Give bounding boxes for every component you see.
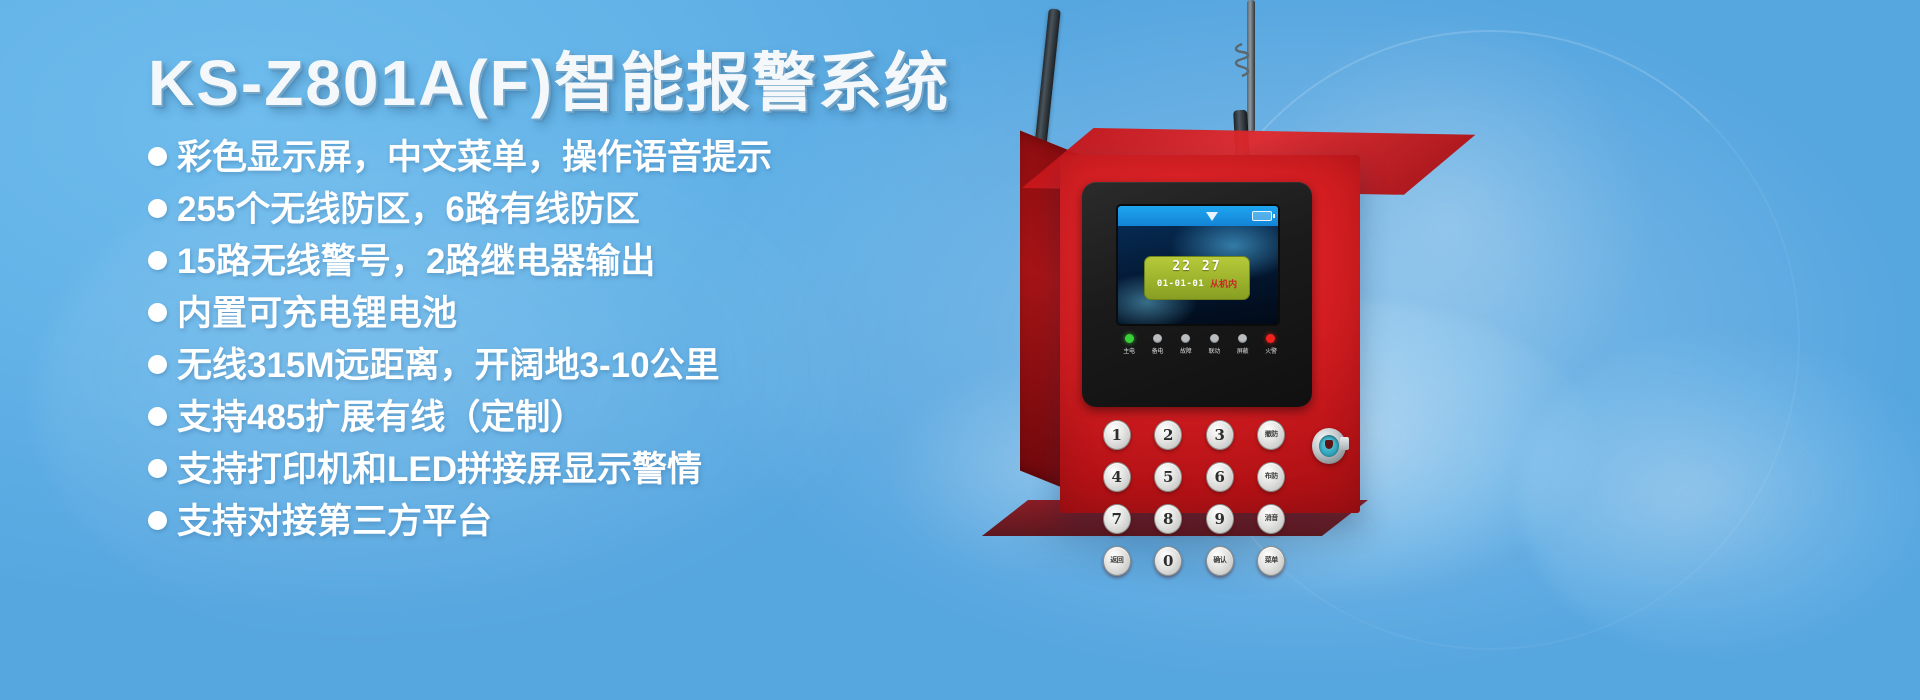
feature-text: 15路无线警号，2路继电器输出 — [177, 244, 655, 279]
list-item: 支持485扩展有线（定制） — [148, 400, 968, 435]
bullet-dot-icon — [148, 459, 167, 478]
bullet-dot-icon — [148, 303, 167, 322]
keypad-key-2[interactable]: 2 — [1154, 420, 1182, 450]
list-item: 彩色显示屏，中文菜单，操作语音提示 — [148, 140, 968, 175]
bullet-dot-icon — [148, 199, 167, 218]
keypad-key-6[interactable]: 6 — [1206, 462, 1234, 492]
led-label: 主电 — [1116, 346, 1142, 355]
feature-text: 支持485扩展有线（定制） — [177, 400, 585, 435]
led-lamp-icon — [1153, 334, 1162, 343]
led-lamp-icon — [1210, 334, 1219, 343]
lcd-info-panel: 22 27 01-01-01 从机内 — [1144, 256, 1250, 300]
keypad-key-mute[interactable]: 消音 — [1257, 504, 1285, 534]
keypad-key-confirm[interactable]: 确认 — [1206, 546, 1234, 576]
bullet-dot-icon — [148, 355, 167, 374]
bullet-dot-icon — [148, 251, 167, 270]
keypad-key-disarm[interactable]: 撤防 — [1257, 420, 1285, 450]
feature-text: 内置可充电锂电池 — [177, 296, 457, 331]
bullet-dot-icon — [148, 511, 167, 530]
keypad-key-8[interactable]: 8 — [1154, 504, 1182, 534]
led-indicator: 备电 — [1144, 334, 1170, 355]
lcd-time: 22 27 — [1145, 259, 1249, 275]
keypad-key-4[interactable]: 4 — [1103, 462, 1131, 492]
led-lamp-icon — [1266, 334, 1275, 343]
banner-content: KS-Z801A(F)智能报警系统 彩色显示屏，中文菜单，操作语音提示 255个… — [148, 48, 968, 556]
lcd-status-bar — [1118, 206, 1278, 226]
led-label: 备电 — [1144, 346, 1170, 355]
led-indicator: 屏蔽 — [1230, 334, 1256, 355]
keypad-key-7[interactable]: 7 — [1103, 504, 1131, 534]
keypad-key-1[interactable]: 1 — [1103, 420, 1131, 450]
product-banner: KS-Z801A(F)智能报警系统 彩色显示屏，中文菜单，操作语音提示 255个… — [0, 0, 1920, 700]
lcd-date: 01-01-01 — [1157, 277, 1204, 291]
led-indicator-strip: 主电 备电 故障 联动 屏蔽 — [1116, 334, 1284, 355]
led-label: 联动 — [1201, 346, 1227, 355]
keypad-key-3[interactable]: 3 — [1206, 420, 1234, 450]
lcd-mode-label: 从机内 — [1210, 277, 1237, 291]
battery-icon — [1252, 211, 1272, 221]
led-label: 火警 — [1258, 346, 1284, 355]
feature-list: 彩色显示屏，中文菜单，操作语音提示 255个无线防区，6路有线防区 15路无线警… — [148, 140, 968, 539]
keypad-key-menu[interactable]: 菜单 — [1257, 546, 1285, 576]
feature-text: 支持对接第三方平台 — [177, 504, 492, 539]
led-indicator: 主电 — [1116, 334, 1142, 355]
keypad[interactable]: 1 2 3 撤防 4 5 6 布防 7 8 9 消音 返回 0 确认 菜单 — [1096, 420, 1292, 576]
alarm-panel-device: 22 27 01-01-01 从机内 主电 备电 — [960, 0, 1920, 700]
wifi-signal-icon — [1206, 212, 1218, 221]
led-label: 故障 — [1173, 346, 1199, 355]
led-lamp-icon — [1238, 334, 1247, 343]
led-lamp-icon — [1181, 334, 1190, 343]
led-lamp-icon — [1125, 334, 1134, 343]
cabinet-key-lock[interactable] — [1312, 428, 1346, 464]
list-item: 内置可充电锂电池 — [148, 296, 968, 331]
lcd-wallpaper: 22 27 01-01-01 从机内 — [1118, 226, 1278, 324]
lock-keyhole-icon — [1325, 440, 1333, 449]
keypad-key-5[interactable]: 5 — [1154, 462, 1182, 492]
feature-text: 255个无线防区，6路有线防区 — [177, 192, 640, 227]
led-indicator: 火警 — [1258, 334, 1284, 355]
list-item: 支持对接第三方平台 — [148, 504, 968, 539]
led-indicator: 故障 — [1173, 334, 1199, 355]
list-item: 支持打印机和LED拼接屏显示警情 — [148, 452, 968, 487]
keypad-key-arm[interactable]: 布防 — [1257, 462, 1285, 492]
lcd-screen: 22 27 01-01-01 从机内 — [1118, 206, 1278, 324]
keypad-key-0[interactable]: 0 — [1154, 546, 1182, 576]
list-item: 15路无线警号，2路继电器输出 — [148, 244, 968, 279]
feature-text: 支持打印机和LED拼接屏显示警情 — [177, 452, 702, 487]
page-title: KS-Z801A(F)智能报警系统 — [148, 48, 968, 118]
feature-text: 彩色显示屏，中文菜单，操作语音提示 — [177, 140, 772, 175]
list-item: 无线315M远距离，开阔地3-10公里 — [148, 348, 968, 383]
lock-tab — [1340, 437, 1349, 450]
bullet-dot-icon — [148, 407, 167, 426]
bullet-dot-icon — [148, 147, 167, 166]
feature-text: 无线315M远距离，开阔地3-10公里 — [177, 348, 720, 383]
keypad-key-9[interactable]: 9 — [1206, 504, 1234, 534]
led-indicator: 联动 — [1201, 334, 1227, 355]
control-bezel: 22 27 01-01-01 从机内 主电 备电 — [1082, 182, 1312, 407]
led-label: 屏蔽 — [1230, 346, 1256, 355]
list-item: 255个无线防区，6路有线防区 — [148, 192, 968, 227]
antenna-coil-icon — [1230, 42, 1254, 82]
keypad-key-back[interactable]: 返回 — [1103, 546, 1131, 576]
lcd-sub-row: 01-01-01 从机内 — [1145, 277, 1249, 291]
